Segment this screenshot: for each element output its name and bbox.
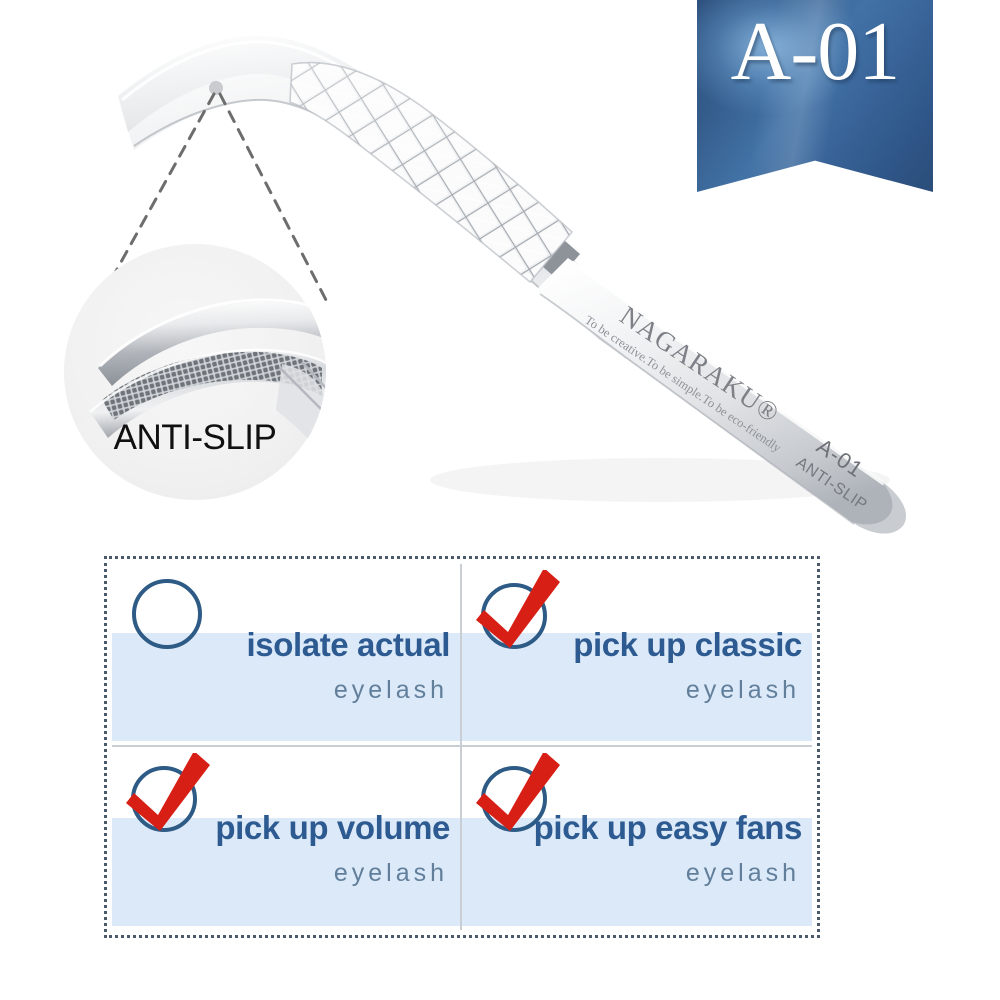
cell-title: isolate actual (247, 626, 451, 664)
feature-grid-inner: isolate actual eyelash pick up classic e… (112, 564, 812, 930)
cell-content: pick up classic eyelash (462, 564, 812, 745)
cell-content: pick up volume eyelash (112, 747, 460, 930)
cell-subtitle: eyelash (334, 676, 448, 705)
feature-grid: isolate actual eyelash pick up classic e… (104, 556, 820, 938)
cell-content: pick up easy fans eyelash (462, 747, 812, 930)
model-badge: A-01 (697, 0, 933, 192)
callout-magnified-tips (64, 244, 326, 500)
cell-content: isolate actual eyelash (112, 564, 460, 745)
feature-cell-pick-up-easy-fans[interactable]: pick up easy fans eyelash (462, 747, 812, 930)
cell-title: pick up easy fans (534, 809, 802, 847)
circle-check-icon (124, 753, 210, 839)
feature-cell-pick-up-classic[interactable]: pick up classic eyelash (462, 564, 812, 747)
cell-subtitle: eyelash (334, 859, 448, 888)
cell-title: pick up volume (215, 809, 450, 847)
feature-cell-pick-up-volume[interactable]: pick up volume eyelash (112, 747, 462, 930)
circle-check-icon (474, 570, 560, 656)
antislip-callout: ANTI-SLIP (64, 244, 326, 500)
circle-empty-icon (124, 570, 210, 656)
ribbon-label: A-01 (697, 10, 933, 94)
cell-subtitle: eyelash (686, 859, 800, 888)
antislip-label: ANTI-SLIP (64, 418, 326, 458)
cell-title: pick up classic (573, 626, 802, 664)
feature-cell-isolate-actual[interactable]: isolate actual eyelash (112, 564, 462, 747)
cell-subtitle: eyelash (686, 676, 800, 705)
